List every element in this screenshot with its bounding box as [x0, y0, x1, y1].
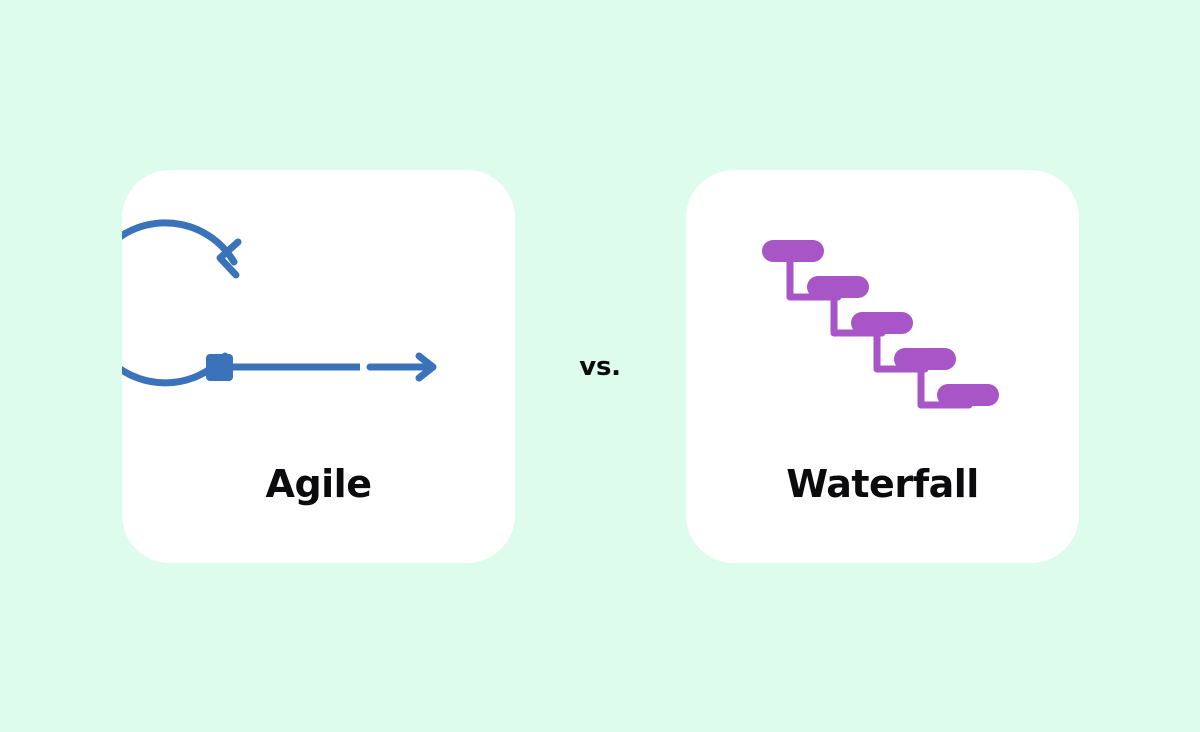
- waterfall-stage-1: [762, 240, 824, 262]
- waterfall-stages-icon: [686, 196, 1079, 452]
- agile-cycle-icon: [122, 196, 515, 452]
- comparison-card-agile[interactable]: Agile: [122, 170, 515, 563]
- comparison-canvas: Agile vs.: [0, 0, 1200, 732]
- versus-separator: vs.: [545, 352, 655, 382]
- comparison-card-waterfall[interactable]: Waterfall: [686, 170, 1079, 563]
- waterfall-stage-5: [937, 384, 999, 406]
- card-label-waterfall: Waterfall: [686, 462, 1079, 506]
- waterfall-stage-3: [851, 312, 913, 334]
- waterfall-stage-2: [807, 276, 869, 298]
- waterfall-stage-4: [894, 348, 956, 370]
- card-label-agile: Agile: [122, 462, 515, 506]
